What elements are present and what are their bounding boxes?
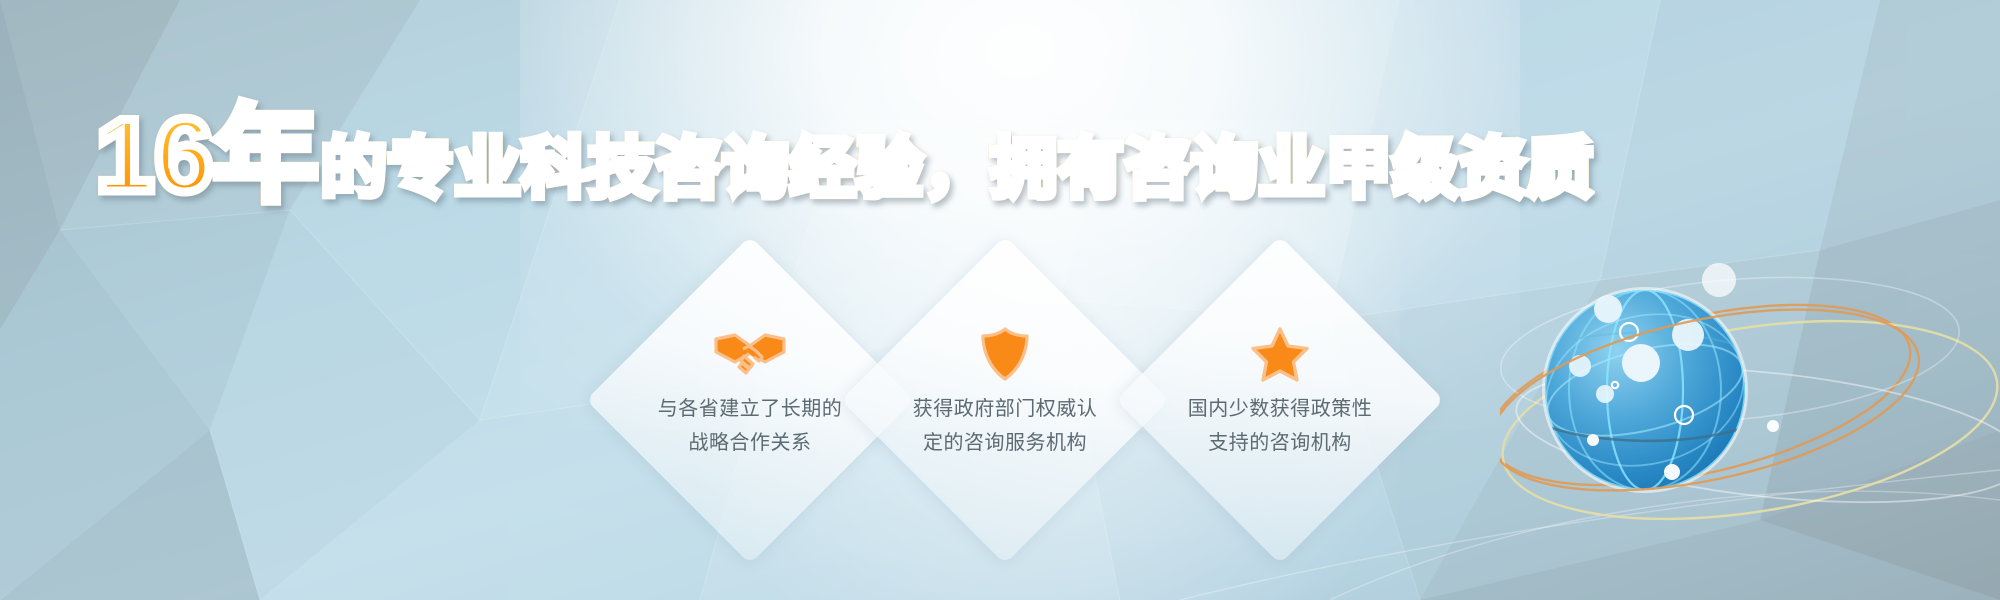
feature-card-policy-support[interactable]: 国内少数获得政策性 支持的咨询机构 [1164, 284, 1396, 516]
feature-card-partnership[interactable]: 与各省建立了长期的 战略合作关系 [634, 284, 866, 516]
feature-text: 与各省建立了长期的 战略合作关系 [658, 392, 843, 460]
feature-line-1: 与各省建立了长期的 [658, 392, 843, 426]
promo-banner: 16年 的专业科技咨询经验，拥有咨询业甲级资质 [0, 0, 2000, 600]
feature-card-authority[interactable]: 获得政府部门权威认 定的咨询服务机构 [889, 284, 1121, 516]
feature-card-list: 与各省建立了长期的 战略合作关系 获得政府部门权威认 定的咨询服务机构 [0, 0, 2000, 600]
feature-line-2: 战略合作关系 [658, 426, 843, 460]
headline: 16年 的专业科技咨询经验，拥有咨询业甲级资质 [96, 104, 1594, 204]
feature-line-1: 国内少数获得政策性 [1188, 392, 1373, 426]
feature-text: 获得政府部门权威认 定的咨询服务机构 [913, 392, 1098, 460]
feature-line-1: 获得政府部门权威认 [913, 392, 1098, 426]
handshake-icon [713, 328, 787, 380]
feature-line-2: 支持的咨询机构 [1188, 426, 1373, 460]
star-icon [1251, 328, 1309, 380]
feature-text: 国内少数获得政策性 支持的咨询机构 [1188, 392, 1373, 460]
feature-line-2: 定的咨询服务机构 [913, 426, 1098, 460]
headline-number: 16年 [96, 104, 319, 208]
headline-text: 的专业科技咨询经验，拥有咨询业甲级资质 [321, 135, 1594, 201]
shield-icon [980, 328, 1030, 380]
